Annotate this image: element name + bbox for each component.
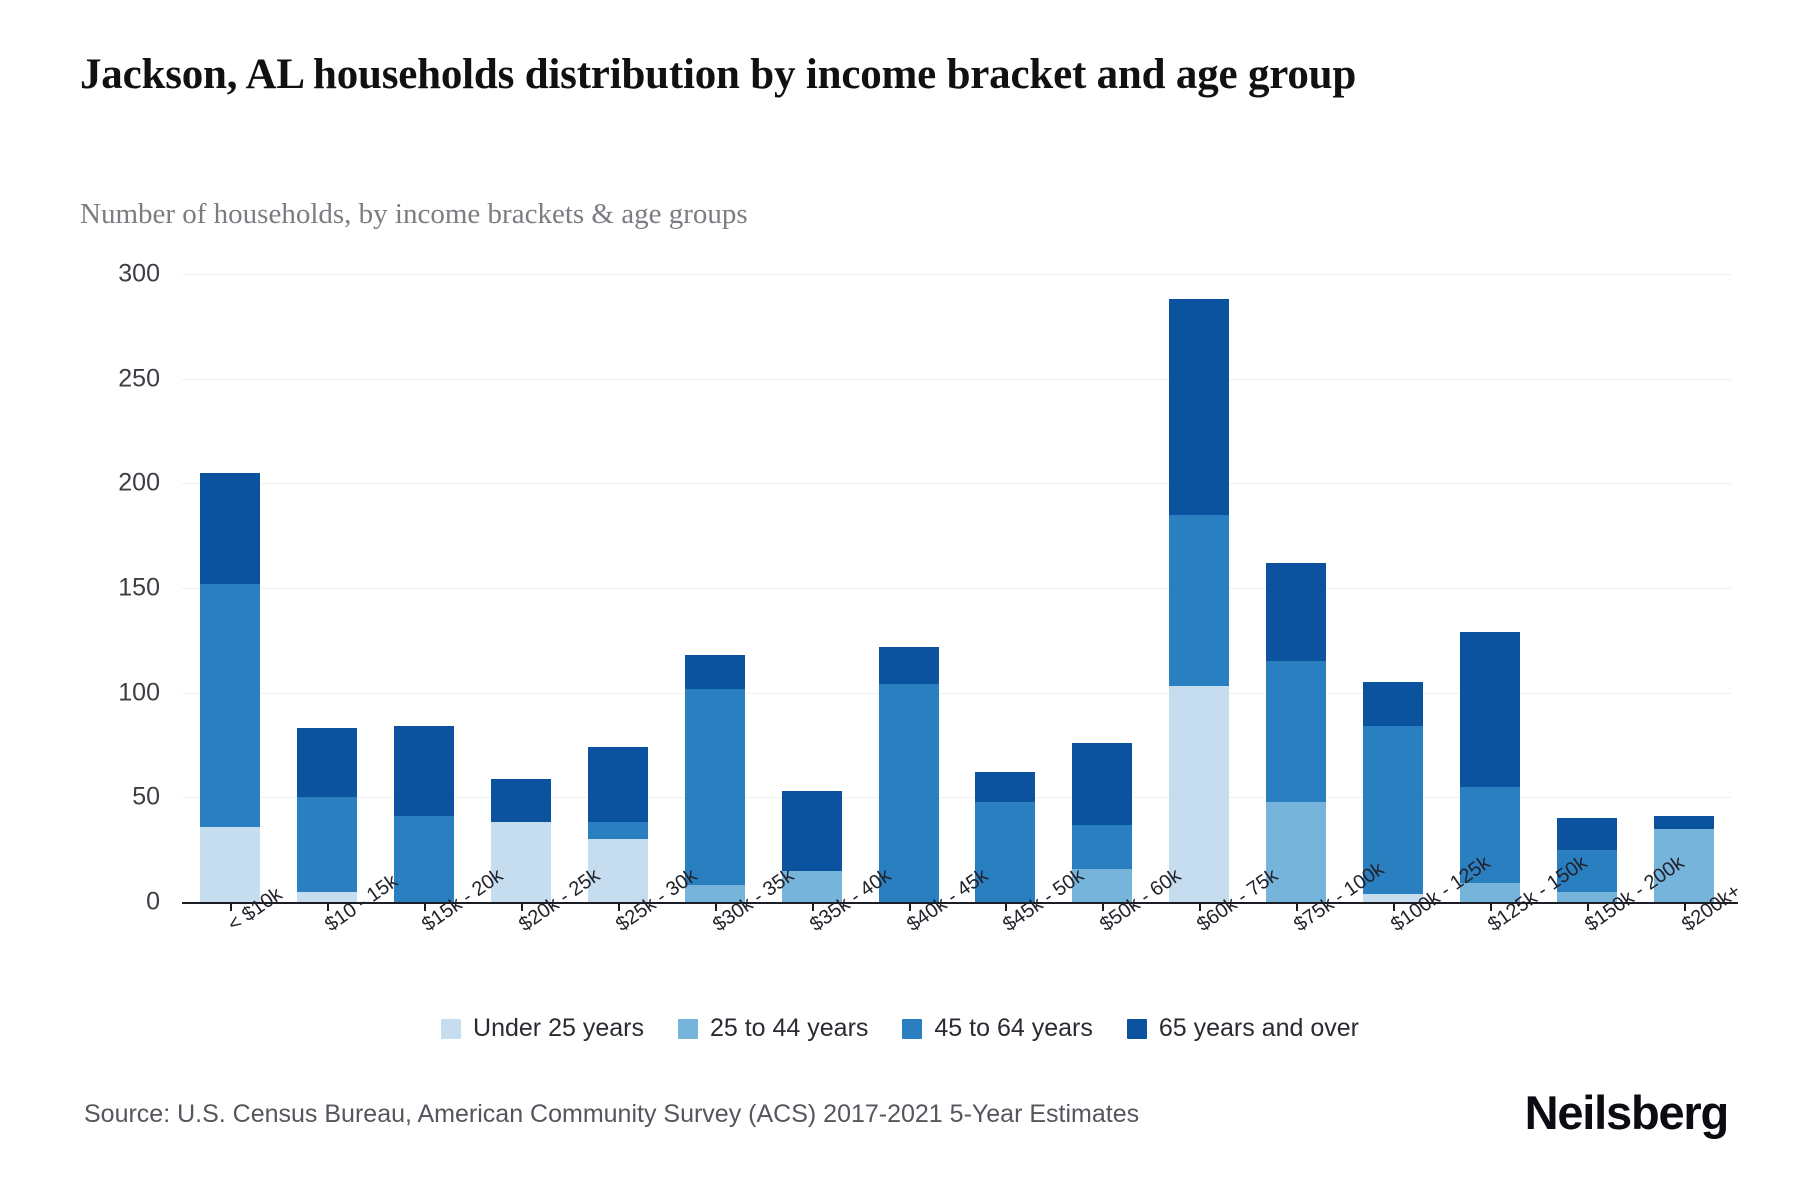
- stacked-bar[interactable]: [685, 655, 745, 902]
- bar-segment[interactable]: [685, 655, 745, 688]
- x-axis-tickmark: [1684, 902, 1686, 911]
- x-axis-tickmark: [1587, 902, 1589, 911]
- legend-item[interactable]: 65 years and over: [1127, 1014, 1359, 1043]
- bar-segment[interactable]: [491, 779, 551, 823]
- x-axis-tickmark: [1005, 902, 1007, 911]
- x-axis-tickmark: [1490, 902, 1492, 911]
- bar-slot[interactable]: [1054, 274, 1151, 902]
- brand-logo: Neilsberg: [1525, 1085, 1728, 1140]
- bar-segment[interactable]: [297, 728, 357, 797]
- legend-label: 65 years and over: [1159, 1014, 1359, 1043]
- x-axis-tickmark: [1393, 902, 1395, 911]
- bar-slot[interactable]: [473, 274, 570, 902]
- legend-label: 45 to 64 years: [934, 1014, 1092, 1043]
- bar-segment[interactable]: [1072, 743, 1132, 825]
- bar-segment[interactable]: [394, 726, 454, 816]
- bar-slot[interactable]: [570, 274, 667, 902]
- bar-segment[interactable]: [1557, 818, 1617, 849]
- y-axis-tick-label: 250: [40, 364, 160, 393]
- source-note: Source: U.S. Census Bureau, American Com…: [84, 1100, 1139, 1129]
- bar-slot[interactable]: [666, 274, 763, 902]
- y-axis-tick-label: 150: [40, 574, 160, 603]
- y-axis-tick-label: 50: [40, 783, 160, 812]
- y-axis-tick-label: 200: [40, 469, 160, 498]
- y-axis-tick-label: 0: [40, 888, 160, 917]
- bar-segment[interactable]: [588, 822, 648, 839]
- legend-swatch-icon: [902, 1019, 922, 1039]
- stacked-bar[interactable]: [1266, 563, 1326, 902]
- bar-slot[interactable]: [763, 274, 860, 902]
- y-axis-tick-label: 100: [40, 678, 160, 707]
- x-axis-tickmark: [1102, 902, 1104, 911]
- legend-item[interactable]: 25 to 44 years: [678, 1014, 868, 1043]
- x-axis-tickmark: [1199, 902, 1201, 911]
- bar-slot[interactable]: [957, 274, 1054, 902]
- x-axis-tickmark: [1296, 902, 1298, 911]
- x-axis-tickmark: [715, 902, 717, 911]
- bar-segment[interactable]: [1363, 682, 1423, 726]
- bar-slot[interactable]: [1151, 274, 1248, 902]
- bar-segment[interactable]: [297, 797, 357, 891]
- bar-slot[interactable]: [860, 274, 957, 902]
- stacked-bar[interactable]: [1654, 816, 1714, 902]
- bar-segment[interactable]: [685, 689, 745, 886]
- bar-segment[interactable]: [782, 791, 842, 871]
- x-axis-tickmark: [618, 902, 620, 911]
- x-axis-tickmark: [812, 902, 814, 911]
- bar-slot[interactable]: [1441, 274, 1538, 902]
- bar-segment[interactable]: [975, 772, 1035, 801]
- legend-swatch-icon: [678, 1019, 698, 1039]
- bar-slot[interactable]: [1635, 274, 1732, 902]
- y-axis-tick-label: 300: [40, 260, 160, 289]
- legend-swatch-icon: [441, 1019, 461, 1039]
- bar-slot[interactable]: [1538, 274, 1635, 902]
- bar-segment[interactable]: [394, 816, 454, 902]
- x-axis-tickmark: [230, 902, 232, 911]
- bar-segment[interactable]: [1072, 825, 1132, 869]
- bar-segment[interactable]: [200, 473, 260, 584]
- bar-segment[interactable]: [1266, 563, 1326, 661]
- bar-segment[interactable]: [1654, 816, 1714, 829]
- stacked-bar[interactable]: [394, 726, 454, 902]
- x-axis-tickmark: [909, 902, 911, 911]
- stacked-bar[interactable]: [200, 473, 260, 902]
- x-axis-tickmark: [424, 902, 426, 911]
- bar-segment[interactable]: [1169, 515, 1229, 687]
- legend-swatch-icon: [1127, 1019, 1147, 1039]
- chart-page: Jackson, AL households distribution by i…: [0, 0, 1800, 1200]
- bar-segment[interactable]: [588, 839, 648, 902]
- bar-group: [182, 274, 1732, 902]
- stacked-bar[interactable]: [879, 647, 939, 902]
- bar-slot[interactable]: [279, 274, 376, 902]
- bar-segment[interactable]: [200, 827, 260, 902]
- stacked-bar[interactable]: [297, 728, 357, 902]
- legend-label: 25 to 44 years: [710, 1014, 868, 1043]
- page-title: Jackson, AL households distribution by i…: [80, 48, 1600, 102]
- bar-segment[interactable]: [200, 584, 260, 827]
- x-axis-tickmark: [327, 902, 329, 911]
- bar-slot[interactable]: [376, 274, 473, 902]
- bar-segment[interactable]: [491, 822, 551, 902]
- legend-item[interactable]: Under 25 years: [441, 1014, 644, 1043]
- bar-slot[interactable]: [1248, 274, 1345, 902]
- bar-segment[interactable]: [879, 647, 939, 685]
- bar-segment[interactable]: [879, 684, 939, 902]
- bar-segment[interactable]: [1460, 632, 1520, 787]
- legend-label: Under 25 years: [473, 1014, 644, 1043]
- bar-segment[interactable]: [1169, 686, 1229, 902]
- page-subtitle: Number of households, by income brackets…: [80, 198, 1480, 231]
- x-axis-tickmark: [521, 902, 523, 911]
- stacked-bar[interactable]: [1169, 299, 1229, 902]
- bar-segment[interactable]: [1266, 661, 1326, 801]
- legend-item[interactable]: 45 to 64 years: [902, 1014, 1092, 1043]
- bar-slot[interactable]: [182, 274, 279, 902]
- chart-legend: Under 25 years25 to 44 years45 to 64 yea…: [0, 1014, 1800, 1043]
- bar-segment[interactable]: [588, 747, 648, 822]
- bar-slot[interactable]: [1345, 274, 1442, 902]
- bar-segment[interactable]: [1169, 299, 1229, 515]
